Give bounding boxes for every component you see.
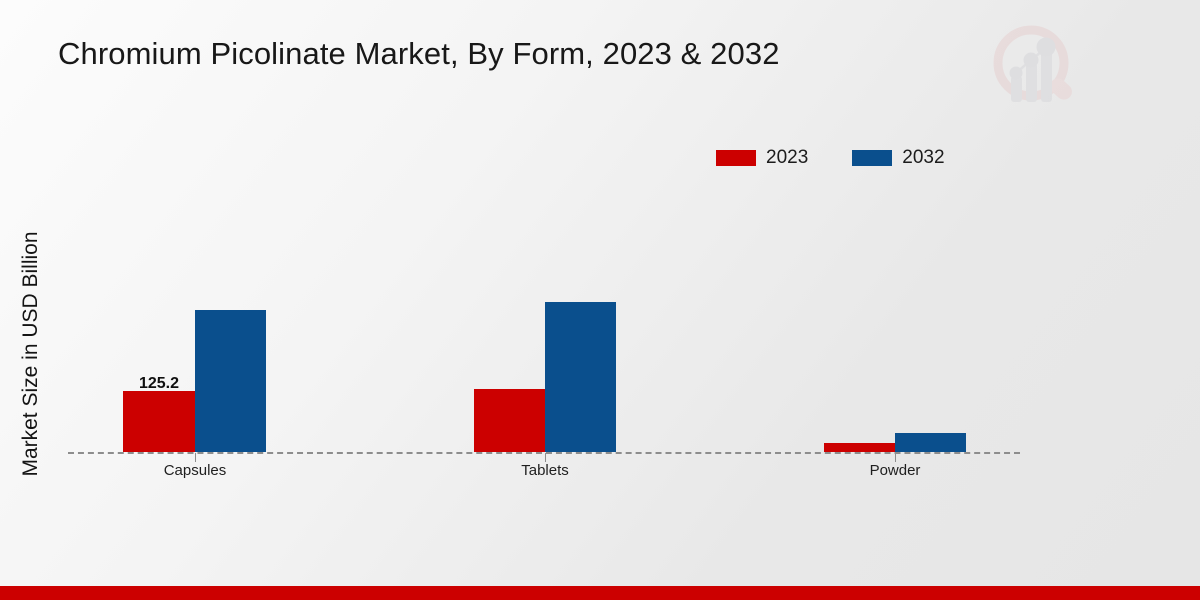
footer-accent-band <box>0 586 1200 600</box>
x-tick-powder <box>895 453 896 462</box>
x-tick-capsules <box>195 453 196 462</box>
y-axis-title: Market Size in USD Billion <box>19 184 43 524</box>
x-tick-tablets <box>545 453 546 462</box>
bar-capsules-2023[interactable] <box>123 391 195 452</box>
brand-watermark-logo <box>985 18 1085 118</box>
legend-swatch-2032 <box>852 150 892 166</box>
legend-swatch-2023 <box>716 150 756 166</box>
bar-capsules-2032[interactable] <box>195 310 266 452</box>
data-label-capsules-2023: 125.2 <box>139 375 179 393</box>
x-axis-baseline <box>68 452 1020 454</box>
chart-legend: 2023 2032 <box>716 147 945 169</box>
category-label-tablets: Tablets <box>521 462 569 479</box>
category-label-capsules: Capsules <box>164 462 227 479</box>
legend-label-2032: 2032 <box>902 147 944 169</box>
chart-plot-area: 125.2 Capsules Tablets Powder <box>0 0 1200 600</box>
page-title: Chromium Picolinate Market, By Form, 202… <box>58 36 780 72</box>
bar-powder-2023[interactable] <box>824 443 895 452</box>
category-label-powder: Powder <box>870 462 921 479</box>
bar-powder-2032[interactable] <box>895 433 966 452</box>
bar-tablets-2023[interactable] <box>474 389 545 452</box>
bar-tablets-2032[interactable] <box>545 302 616 452</box>
legend-item-2032[interactable]: 2032 <box>852 147 944 169</box>
legend-label-2023: 2023 <box>766 147 808 169</box>
legend-item-2023[interactable]: 2023 <box>716 147 808 169</box>
